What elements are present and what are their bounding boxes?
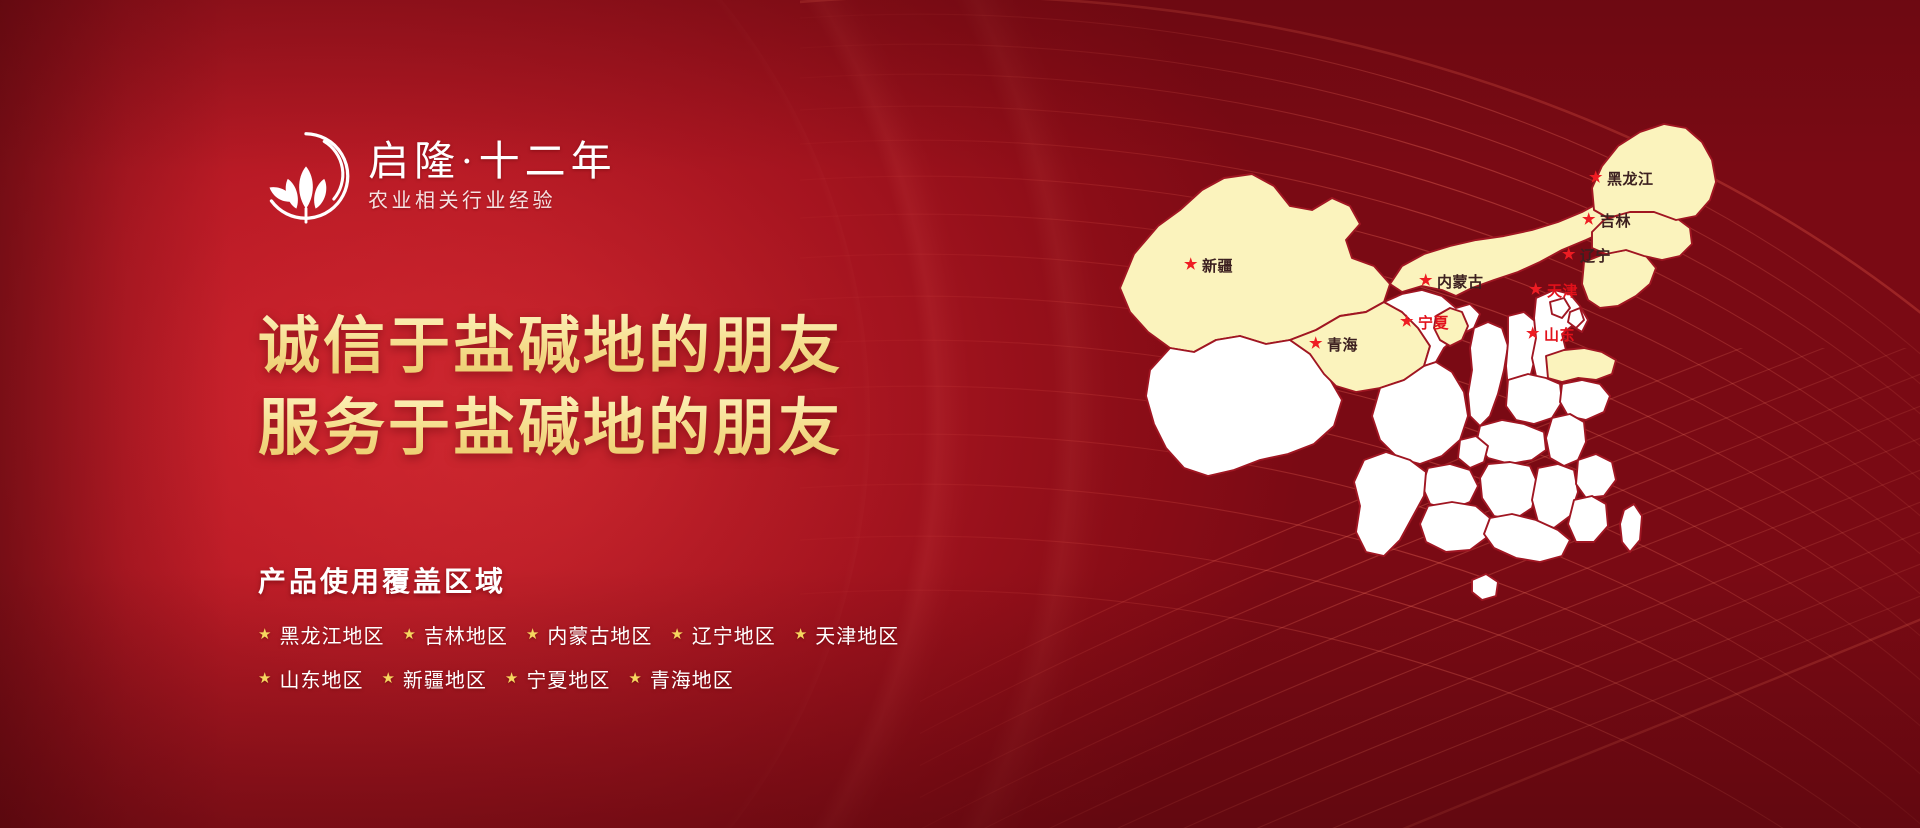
coverage-region-label: 辽宁地区: [692, 620, 776, 649]
coverage-region-item[interactable]: ★青海地区: [628, 664, 733, 693]
star-icon: ★: [628, 671, 641, 686]
coverage-region-list: ★黑龙江地区★吉林地区★内蒙古地区★辽宁地区★天津地区★山东地区★新疆地区★宁夏…: [258, 620, 1018, 708]
province-anhui: [1546, 414, 1586, 466]
coverage-region-label: 宁夏地区: [526, 664, 610, 693]
map-marker-label: 黑龙江: [1607, 168, 1654, 189]
map-marker-label: 新疆: [1202, 255, 1233, 276]
map-marker[interactable]: ★黑龙江: [1589, 168, 1653, 189]
brand-subtitle: 农业相关行业经验: [368, 190, 617, 212]
star-icon: ★: [1526, 327, 1540, 342]
lotus-leaf-circle-logo-icon: [258, 128, 354, 224]
coverage-region-item[interactable]: ★山东地区: [258, 664, 363, 693]
map-marker-label: 天津: [1547, 280, 1578, 301]
coverage-region-item[interactable]: ★天津地区: [794, 620, 899, 649]
star-icon: ★: [1400, 315, 1414, 330]
coverage-region-label: 青海地区: [650, 664, 734, 693]
star-icon: ★: [1589, 171, 1603, 186]
province-shandong: [1546, 348, 1616, 382]
coverage-region-label: 吉林地区: [424, 620, 508, 649]
left-shade: [0, 0, 230, 828]
star-icon: ★: [258, 627, 271, 642]
map-marker-label: 宁夏: [1418, 312, 1449, 333]
brand-text: 启隆·十二年 农业相关行业经验: [368, 140, 617, 212]
star-icon: ★: [1184, 258, 1198, 273]
coverage-region-item[interactable]: ★吉林地区: [402, 620, 507, 649]
headline-line-1: 诚信于盐碱地的朋友: [258, 306, 843, 388]
map-marker-label: 山东: [1544, 324, 1575, 345]
coverage-title: 产品使用覆盖区域: [258, 560, 506, 600]
coverage-row: ★山东地区★新疆地区★宁夏地区★青海地区: [258, 664, 1018, 693]
map-marker[interactable]: ★宁夏: [1400, 312, 1449, 333]
map-marker[interactable]: ★新疆: [1184, 255, 1233, 276]
promo-banner: 启隆·十二年 农业相关行业经验 诚信于盐碱地的朋友 服务于盐碱地的朋友 产品使用…: [0, 0, 1920, 828]
headline-line-2: 服务于盐碱地的朋友: [258, 388, 843, 470]
left-content: 启隆·十二年 农业相关行业经验 诚信于盐碱地的朋友 服务于盐碱地的朋友 产品使用…: [258, 0, 1018, 828]
province-taiwan: [1620, 504, 1642, 552]
star-icon: ★: [670, 627, 683, 642]
star-icon: ★: [1582, 213, 1596, 228]
coverage-region-label: 天津地区: [815, 620, 899, 649]
coverage-region-label: 黑龙江地区: [279, 620, 384, 649]
brand-lockup: 启隆·十二年 农业相关行业经验: [258, 128, 617, 224]
star-icon: ★: [1562, 248, 1576, 263]
star-icon: ★: [526, 627, 539, 642]
star-icon: ★: [1419, 274, 1433, 289]
province-henan: [1506, 374, 1562, 424]
star-icon: ★: [1309, 337, 1323, 352]
province-hunan: [1480, 462, 1538, 520]
map-marker[interactable]: ★内蒙古: [1419, 271, 1483, 292]
coverage-region-item[interactable]: ★黑龙江地区: [258, 620, 384, 649]
coverage-region-item[interactable]: ★辽宁地区: [670, 620, 775, 649]
china-coverage-map: ★黑龙江★吉林★辽宁★天津★山东★内蒙古★宁夏★青海★新疆: [1084, 40, 1884, 800]
province-fujian: [1568, 496, 1608, 542]
headline: 诚信于盐碱地的朋友 服务于盐碱地的朋友: [258, 306, 843, 470]
star-icon: ★: [794, 627, 807, 642]
china-map-svg: [1084, 40, 1884, 800]
coverage-region-item[interactable]: ★内蒙古地区: [526, 620, 652, 649]
map-marker[interactable]: ★吉林: [1582, 210, 1631, 231]
coverage-region-label: 内蒙古地区: [547, 620, 652, 649]
map-marker-label: 辽宁: [1580, 245, 1611, 266]
province-hainan: [1472, 574, 1498, 600]
coverage-region-item[interactable]: ★宁夏地区: [505, 664, 610, 693]
map-marker[interactable]: ★天津: [1529, 280, 1578, 301]
province-hubei: [1476, 420, 1546, 464]
province-zhejiang: [1576, 454, 1616, 498]
coverage-region-label: 新疆地区: [403, 664, 487, 693]
star-icon: ★: [505, 671, 518, 686]
coverage-row: ★黑龙江地区★吉林地区★内蒙古地区★辽宁地区★天津地区: [258, 620, 1018, 649]
map-marker-label: 青海: [1327, 334, 1358, 355]
province-shaanxi: [1468, 322, 1508, 426]
map-marker-label: 内蒙古: [1437, 271, 1484, 292]
brand-title: 启隆·十二年: [368, 140, 617, 183]
coverage-region-label: 山东地区: [279, 664, 363, 693]
map-marker[interactable]: ★山东: [1526, 324, 1575, 345]
province-guangxi: [1420, 502, 1490, 552]
map-marker[interactable]: ★青海: [1309, 334, 1358, 355]
map-marker-label: 吉林: [1600, 210, 1631, 231]
star-icon: ★: [258, 671, 271, 686]
province-yunnan: [1354, 452, 1426, 556]
star-icon: ★: [381, 671, 394, 686]
coverage-region-item[interactable]: ★新疆地区: [381, 664, 486, 693]
star-icon: ★: [1529, 283, 1543, 298]
map-marker[interactable]: ★辽宁: [1562, 245, 1611, 266]
star-icon: ★: [402, 627, 415, 642]
